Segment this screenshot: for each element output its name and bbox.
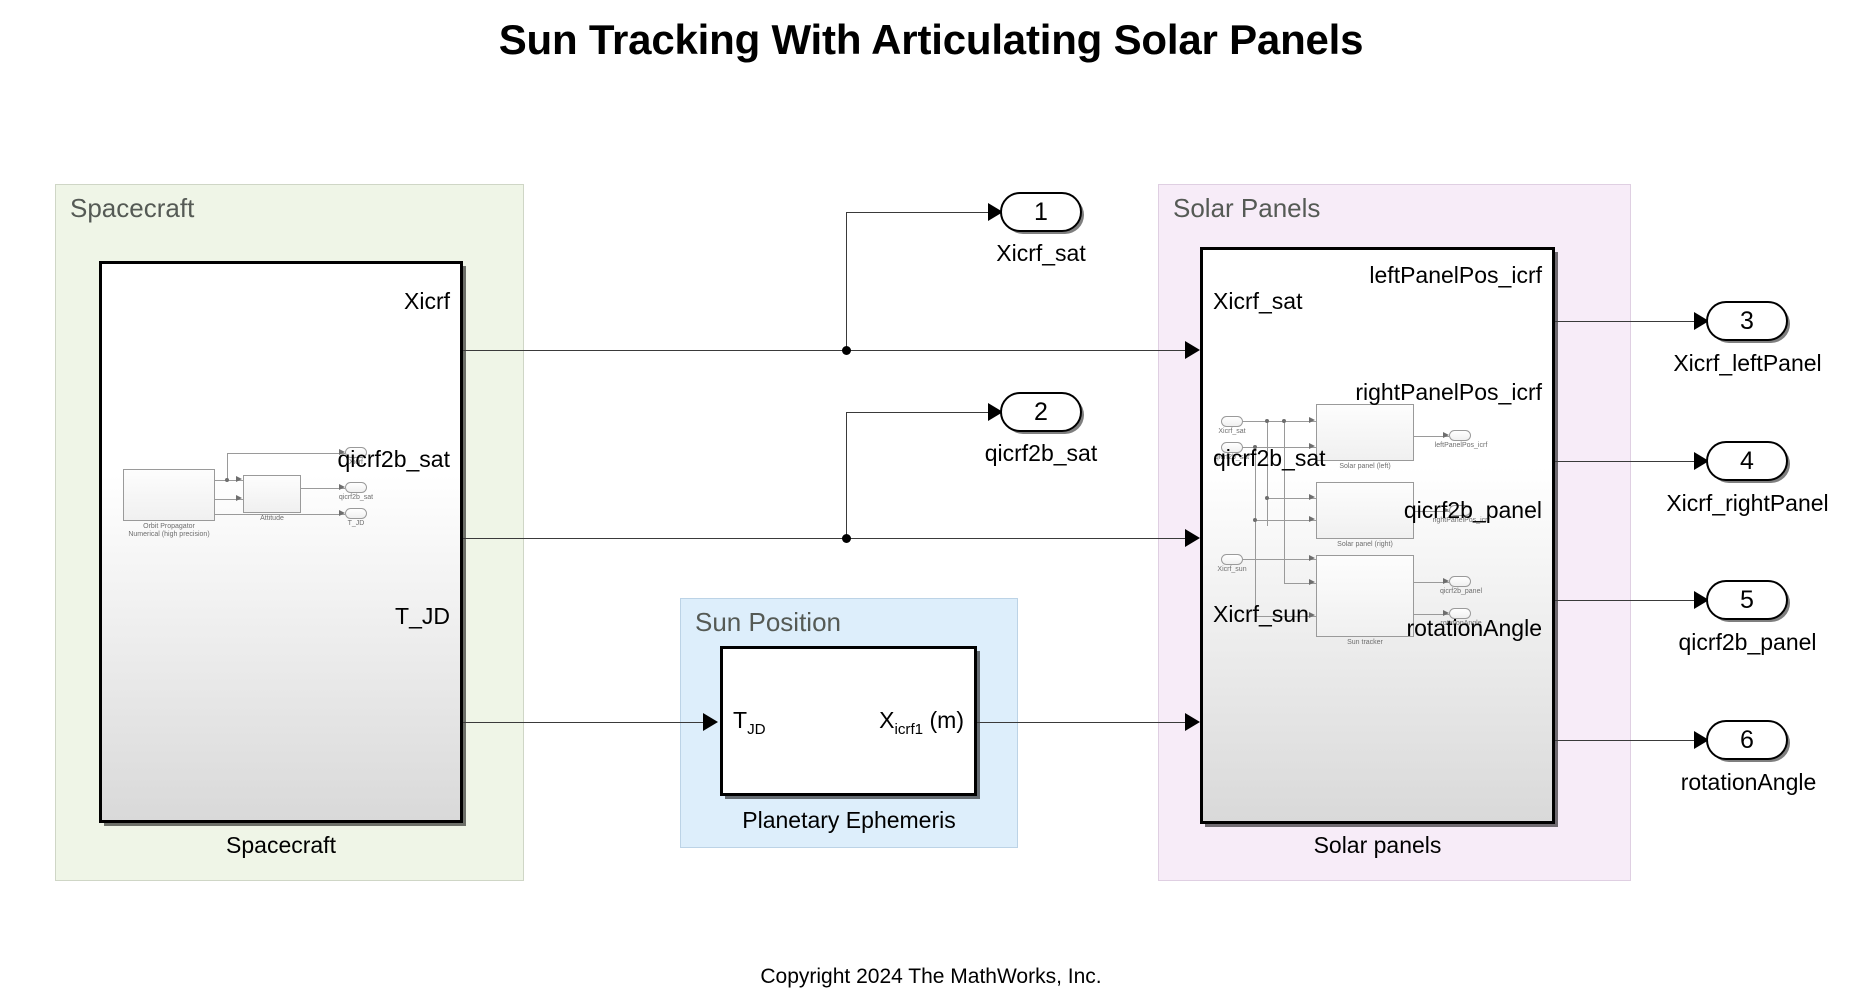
signal-tjd-to-ephemeris[interactable] xyxy=(463,722,706,723)
signal-rotationangle-out[interactable] xyxy=(1555,740,1700,741)
signal-qicrf2b-to-solar[interactable] xyxy=(463,538,1190,539)
thumb-outport-label: leftPanelPos_icrf xyxy=(1425,442,1497,450)
thumb-outport-label: qicrf2b_sat xyxy=(324,494,388,502)
block-label-spacecraft: Spacecraft xyxy=(99,832,463,859)
port-label-rightpanelpos-icrf: rightPanelPos_icrf xyxy=(1355,381,1542,404)
thumb-arrow-icon xyxy=(1309,417,1315,423)
thumb-line xyxy=(227,453,228,481)
thumb-junction-dot xyxy=(1253,518,1257,522)
port-label-xicrf: Xicrf xyxy=(404,290,450,313)
outport-5[interactable]: 5 xyxy=(1706,580,1788,620)
area-solar-panels-title: Solar Panels xyxy=(1173,193,1320,224)
thumb-block-sun-tracker xyxy=(1316,555,1414,637)
port-label-xicrf1-sub: icrf1 xyxy=(894,721,923,738)
thumb-line xyxy=(215,514,345,515)
block-solar-panels[interactable]: Xicrf_sat qicrf2b_sat Xicrf_sun Solar pa… xyxy=(1200,247,1555,824)
port-label-qicrf2b-panel: qicrf2b_panel xyxy=(1404,499,1542,522)
thumb-junction-dot xyxy=(1282,419,1286,423)
thumb-caption-solar-panel-left: Solar panel (left) xyxy=(1316,463,1414,471)
thumb-block-solar-panel-right xyxy=(1316,482,1414,539)
thumb-inport xyxy=(1221,416,1243,427)
area-sun-position-title: Sun Position xyxy=(695,607,841,638)
port-label-rotationangle: rotationAngle xyxy=(1406,617,1542,640)
signal-xicrf-to-solar[interactable] xyxy=(463,350,1190,351)
signal-ephemeris-to-solar[interactable] xyxy=(977,722,1190,723)
block-planetary-ephemeris[interactable]: TJD Xicrf1 (m) xyxy=(720,646,977,796)
outport-2-label: qicrf2b_sat xyxy=(960,440,1122,467)
outport-3[interactable]: 3 xyxy=(1706,301,1788,341)
port-label-leftpanelpos-icrf: leftPanelPos_icrf xyxy=(1369,264,1542,287)
thumb-line xyxy=(1243,421,1316,422)
port-label-qicrf2b-sat-in: qicrf2b_sat xyxy=(1213,447,1326,470)
thumb-arrow-icon xyxy=(1309,612,1315,618)
signal-branch-qicrf2b-top[interactable] xyxy=(846,412,993,413)
outport-4[interactable]: 4 xyxy=(1706,441,1788,481)
port-label-xicrf-sun-in: Xicrf_sun xyxy=(1213,603,1309,626)
thumb-block-solar-panel-left xyxy=(1316,404,1414,461)
thumb-outport xyxy=(1449,430,1471,441)
arrow-icon-tjd-in xyxy=(703,713,718,731)
outport-4-label: Xicrf_rightPanel xyxy=(1640,490,1855,517)
outport-3-label: Xicrf_leftPanel xyxy=(1645,350,1850,377)
thumb-inport xyxy=(1221,554,1243,565)
junction-dot-qicrf2b xyxy=(842,534,851,543)
port-label-t-jd-in: TJD xyxy=(733,709,766,737)
thumb-arrow-icon xyxy=(1309,579,1315,585)
signal-branch-xicrf-up[interactable] xyxy=(846,212,847,351)
copyright-text: Copyright 2024 The MathWorks, Inc. xyxy=(0,965,1862,989)
junction-dot-xicrf xyxy=(842,346,851,355)
thumb-arrow-icon xyxy=(1309,494,1315,500)
thumb-caption-orbit-propagator: Orbit Propagator Numerical (high precisi… xyxy=(107,523,231,539)
outport-1[interactable]: 1 xyxy=(1000,192,1082,232)
port-label-xicrf-sat-in: Xicrf_sat xyxy=(1213,290,1302,313)
signal-qicrf2bpanel-out[interactable] xyxy=(1555,600,1700,601)
port-label-xicrf1-base: X xyxy=(879,707,894,733)
arrow-icon-qicrf2b-sat-in xyxy=(1185,529,1200,547)
thumb-arrow-icon xyxy=(236,495,242,501)
thumb-junction-dot xyxy=(225,478,229,482)
outport-6-label: rotationAngle xyxy=(1660,769,1837,796)
port-label-t-jd-sub: JD xyxy=(747,721,766,738)
thumb-caption-attitude: Attitude xyxy=(243,515,301,523)
outport-2[interactable]: 2 xyxy=(1000,392,1082,432)
thumb-junction-dot xyxy=(1265,419,1269,423)
thumb-line xyxy=(1267,421,1268,526)
thumb-line xyxy=(1243,559,1316,560)
thumb-line xyxy=(1255,520,1316,521)
thumb-arrow-icon xyxy=(236,476,242,482)
port-label-xicrf1-unit: (m) xyxy=(930,707,964,733)
thumb-block-attitude xyxy=(243,475,301,513)
page-title: Sun Tracking With Articulating Solar Pan… xyxy=(0,16,1862,64)
thumb-inport-label: Xicrf_sat xyxy=(1203,428,1261,436)
thumb-outport-label: T_JD xyxy=(334,520,378,528)
diagram-canvas: Sun Tracking With Articulating Solar Pan… xyxy=(0,0,1862,1008)
thumb-junction-dot xyxy=(1265,496,1269,500)
arrow-icon-xicrf-sun-in xyxy=(1185,713,1200,731)
thumb-outport xyxy=(345,508,367,519)
outport-1-label: Xicrf_sat xyxy=(960,240,1122,267)
thumb-block-orbit-propagator xyxy=(123,469,215,521)
block-label-solar-panels: Solar panels xyxy=(1200,832,1555,859)
signal-rightpanelpos-out[interactable] xyxy=(1555,461,1700,462)
outport-6[interactable]: 6 xyxy=(1706,720,1788,760)
signal-branch-qicrf2b-up[interactable] xyxy=(846,412,847,539)
arrow-icon-xicrf-sat-in xyxy=(1185,341,1200,359)
port-label-t-jd: T_JD xyxy=(395,605,450,628)
signal-leftpanelpos-out[interactable] xyxy=(1555,321,1700,322)
block-spacecraft[interactable]: Orbit Propagator Numerical (high precisi… xyxy=(99,261,463,823)
thumb-inport-label: Xicrf_sun xyxy=(1203,566,1261,574)
outport-5-label: qicrf2b_panel xyxy=(1655,629,1840,656)
thumb-outport-label: qicrf2b_panel xyxy=(1428,588,1494,596)
signal-branch-xicrf-top[interactable] xyxy=(846,212,993,213)
block-label-planetary-ephemeris: Planetary Ephemeris xyxy=(680,807,1018,834)
port-label-qicrf2b-sat: qicrf2b_sat xyxy=(337,448,450,471)
thumb-line xyxy=(227,453,345,454)
thumb-arrow-icon xyxy=(1309,555,1315,561)
thumb-caption-solar-panel-right: Solar panel (right) xyxy=(1316,541,1414,549)
thumb-outport xyxy=(1449,576,1471,587)
thumb-caption-sun-tracker: Sun tracker xyxy=(1316,639,1414,647)
port-label-xicrf1-out: Xicrf1 (m) xyxy=(879,709,964,737)
thumb-outport xyxy=(345,482,367,493)
area-spacecraft-title: Spacecraft xyxy=(70,193,194,224)
thumb-arrow-icon xyxy=(1309,516,1315,522)
port-label-t-jd-base: T xyxy=(733,707,747,733)
